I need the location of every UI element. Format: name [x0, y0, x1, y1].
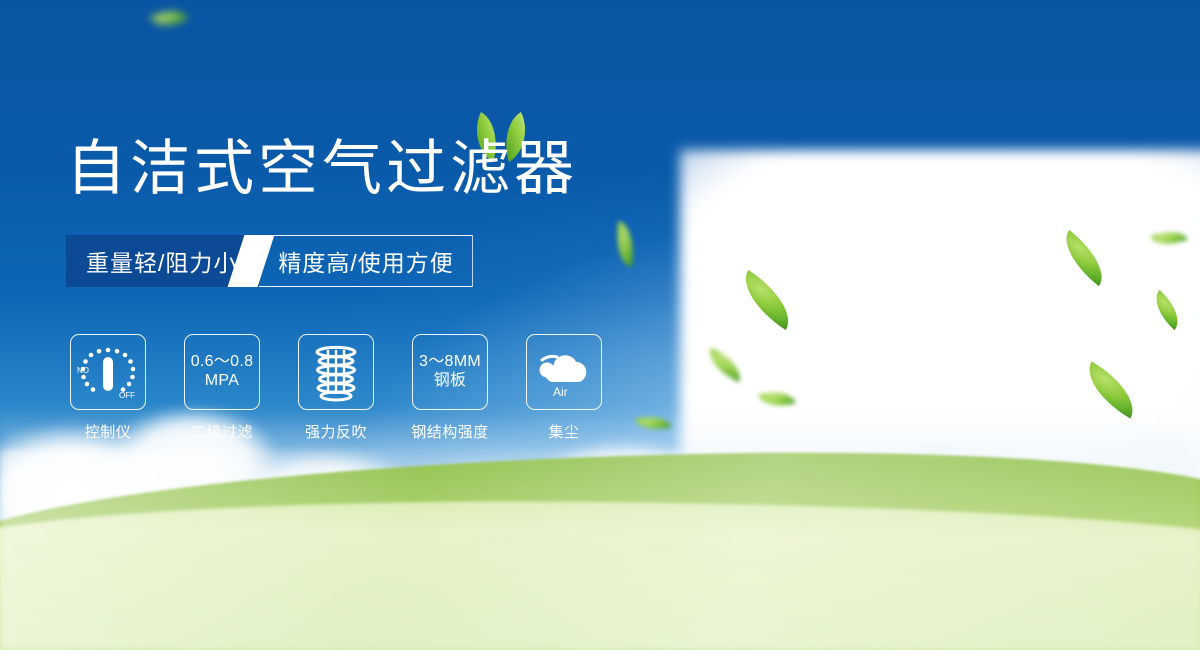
gauge-dial-icon-box: NO OFF	[70, 334, 146, 410]
air-cloud-icon: Air	[533, 343, 595, 401]
steel-value-line1: 3～8MM	[419, 353, 481, 372]
pressure-value-line1: 0.6～0.8	[191, 353, 254, 372]
feature-item-steel: 3～8MM 钢板 钢结构强度	[408, 334, 492, 442]
feature-item-controller: NO OFF 控制仪	[66, 334, 150, 442]
gauge-dial-icon: NO OFF	[75, 341, 141, 403]
feature-item-blowback: 强力反吹	[294, 334, 378, 442]
grass-meadow-near	[0, 495, 1200, 650]
pressure-value-line2: MPA	[205, 372, 239, 391]
feature-caption: 钢结构强度	[411, 421, 489, 442]
filter-stack-icon	[307, 342, 365, 402]
steel-value-line2: 钢板	[434, 372, 467, 391]
dial-label-no: NO	[77, 366, 89, 375]
product-banner: 自洁式空气过滤器 重量轻/阻力小 精度高/使用方便	[0, 0, 1200, 650]
feature-caption: 集尘	[548, 421, 579, 442]
tag-right: 精度高/使用方便	[243, 235, 472, 287]
page-title: 自洁式空气过滤器	[66, 139, 578, 199]
dial-label-off: OFF	[119, 391, 135, 400]
filter-stack-icon-box	[298, 334, 374, 410]
feature-caption: 控制仪	[85, 421, 132, 442]
feature-item-dust: Air 集尘	[522, 334, 606, 442]
feature-caption: 二级过滤	[191, 421, 253, 442]
pressure-text-icon-box: 0.6～0.8 MPA	[184, 334, 260, 410]
feature-item-pressure: 0.6～0.8 MPA 二级过滤	[180, 334, 264, 442]
steel-plate-icon-box: 3～8MM 钢板	[412, 334, 488, 410]
air-cloud-icon-box: Air	[526, 334, 602, 410]
air-label: Air	[553, 385, 568, 399]
feature-icon-row: NO OFF 控制仪 0.6～0.8 MPA 二级过滤	[66, 334, 606, 442]
feature-caption: 强力反吹	[305, 421, 367, 442]
